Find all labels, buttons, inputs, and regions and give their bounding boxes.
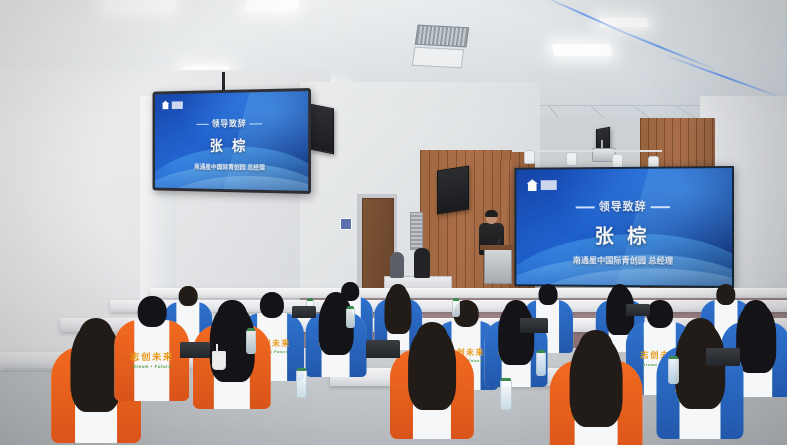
straw xyxy=(216,344,218,354)
slide-dash-left xyxy=(197,124,209,125)
logo-wordmark xyxy=(172,101,183,109)
wall-speaker xyxy=(437,165,469,214)
slide-eyebrow-text: 领导致辞 xyxy=(599,201,647,213)
bottle-cap xyxy=(501,378,511,381)
water-bottle xyxy=(452,300,460,317)
conference-hall-photo: 领导致辞 张 棕 南通星中国际青创园 总经理 领导致辞 张 棕 南通星中国际青创… xyxy=(0,0,787,445)
slide-eyebrow-text: 领导致辞 xyxy=(212,119,247,129)
ceiling-air-vent xyxy=(415,25,469,48)
attendee-head xyxy=(324,292,347,317)
track-light xyxy=(524,150,535,164)
wall-louver-vent xyxy=(410,212,423,250)
attendee: 志创未来Dream • Future xyxy=(193,300,271,416)
bottle-cap xyxy=(347,306,354,309)
wall-speaker xyxy=(310,104,334,155)
ceiling-panel-light xyxy=(102,0,178,12)
slide-speaker-title: 南通星中国际青创园 总经理 xyxy=(516,254,732,267)
attendee-shirt: 志创未来Dream • Future xyxy=(114,320,189,401)
water-bottle xyxy=(296,370,307,398)
slide-eyebrow: 领导致辞 xyxy=(155,116,308,130)
bottle-cap xyxy=(669,356,678,359)
bottle-cap xyxy=(453,298,459,301)
water-bottle xyxy=(246,330,256,354)
attendee: 志创未来Dream • Future xyxy=(485,300,548,393)
slide-dash-left xyxy=(576,207,595,209)
presenter-hair xyxy=(485,210,498,217)
slide-speaker-name: 张 棕 xyxy=(516,220,732,249)
laptop xyxy=(706,348,740,366)
slide-main-screen: 领导致辞 张 棕 南通星中国际青创园 总经理 xyxy=(516,168,732,286)
slide-eyebrow: 领导致辞 xyxy=(516,198,732,214)
ceiling-panel-light xyxy=(244,0,300,10)
attendee: 志创未来Dream • Future xyxy=(550,330,643,445)
attendee-head xyxy=(743,300,769,329)
seated-staff xyxy=(390,252,404,278)
laptop xyxy=(520,318,548,333)
laptop xyxy=(180,342,210,358)
attendee: 志创未来Dream • Future xyxy=(390,322,474,445)
laptop xyxy=(292,306,316,318)
slide-dash-right xyxy=(249,124,262,125)
attendee-head xyxy=(217,300,247,332)
logo-wordmark xyxy=(541,180,557,190)
laptop xyxy=(626,304,650,316)
attendee: 志创未来Dream • Future xyxy=(114,296,189,408)
wall-mounted-tv[interactable]: 领导致辞 张 棕 南通星中国际青创园 总经理 xyxy=(153,88,311,194)
ceiling-panel-light xyxy=(552,44,612,56)
attendee-head xyxy=(416,322,448,357)
startup-park-logo xyxy=(162,100,183,109)
shirt-graphic-text: 志创未来 xyxy=(130,353,174,363)
podium-top xyxy=(480,245,514,250)
water-bottle xyxy=(500,380,512,410)
attendee-head xyxy=(138,296,167,327)
drink-cup xyxy=(212,352,226,370)
attendee-head xyxy=(389,284,407,304)
laptop xyxy=(366,340,400,358)
water-bottle xyxy=(668,358,679,384)
attendee-head xyxy=(578,330,613,368)
startup-park-logo xyxy=(527,179,557,191)
ceiling-access-panel xyxy=(412,47,464,69)
wall-sign xyxy=(340,218,352,230)
water-bottle xyxy=(346,308,355,328)
bottle-cap xyxy=(247,328,255,331)
stage-led-screen[interactable]: 领导致辞 张 棕 南通星中国际青创园 总经理 xyxy=(514,166,734,288)
slide-speaker-name: 张 棕 xyxy=(155,135,308,156)
slide-left-tv: 领导致辞 张 棕 南通星中国际青创园 总经理 xyxy=(155,91,308,191)
bottle-cap xyxy=(307,298,313,301)
cup-lid xyxy=(212,351,226,354)
track-light xyxy=(566,152,577,166)
attendee-head xyxy=(79,318,113,355)
bottle-cap xyxy=(297,368,306,371)
slide-dash-right xyxy=(650,206,669,208)
shirt-graphic-subtext: Dream • Future xyxy=(133,364,172,369)
bottle-cap xyxy=(537,350,545,353)
seated-staff xyxy=(414,248,430,278)
track-light xyxy=(612,154,623,168)
water-bottle xyxy=(536,352,546,376)
podium xyxy=(484,248,512,284)
logo-mark-icon xyxy=(162,101,170,110)
logo-mark-icon xyxy=(527,179,538,191)
